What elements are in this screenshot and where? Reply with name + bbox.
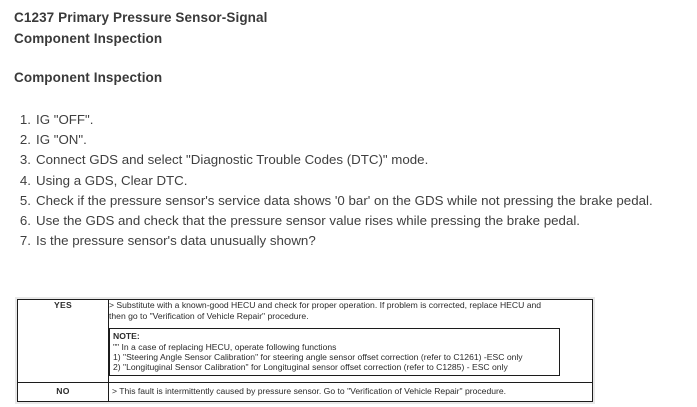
table-row: YES > Substitute with a known-good HECU … [18,300,593,383]
procedure-step-list: 1. IG "OFF". 2. IG "ON". 3. Connect GDS … [14,110,689,251]
document-title-line-2: Component Inspection [14,28,674,49]
step-number: 1. [14,110,36,130]
step-text: Use the GDS and check that the pressure … [36,211,689,231]
action-line: > Substitute with a known-good HECU and … [109,300,592,311]
document-page: C1237 Primary Pressure Sensor-Signal Com… [0,0,697,407]
list-item: 2. IG "ON". [14,130,689,150]
step-number: 2. [14,130,36,150]
action-cell-yes: > Substitute with a known-good HECU and … [109,300,593,383]
document-heading: C1237 Primary Pressure Sensor-Signal Com… [14,7,674,49]
list-item: 7. Is the pressure sensor's data unusual… [14,231,689,251]
action-cell-no: > This fault is intermittently caused by… [109,383,593,402]
list-item: 1. IG "OFF". [14,110,689,130]
note-line: 1) "Steering Angle Sensor Calibration" f… [113,352,556,362]
step-number: 6. [14,211,36,231]
note-line: 2) "Longituginal Sensor Calibration" for… [113,362,556,372]
step-text: Connect GDS and select "Diagnostic Troub… [36,150,689,170]
answer-cell-yes: YES [18,300,109,383]
step-text: Using a GDS, Clear DTC. [36,171,689,191]
note-title: NOTE: [113,331,556,341]
step-text: Check if the pressure sensor's service d… [36,191,689,211]
result-table: YES > Substitute with a known-good HECU … [17,299,593,402]
list-item: 3. Connect GDS and select "Diagnostic Tr… [14,150,689,170]
result-table-wrapper: YES > Substitute with a known-good HECU … [15,297,595,404]
step-text: IG "ON". [36,130,689,150]
section-title: Component Inspection [14,69,162,87]
list-item: 5. Check if the pressure sensor's servic… [14,191,689,211]
action-line: then go to "Verification of Vehicle Repa… [109,311,592,322]
step-number: 4. [14,171,36,191]
document-title-line-1: C1237 Primary Pressure Sensor-Signal [14,7,674,28]
note-box: NOTE: "" In a case of replacing HECU, op… [109,328,560,376]
list-item: 4. Using a GDS, Clear DTC. [14,171,689,191]
answer-cell-no: NO [18,383,109,402]
table-row: NO > This fault is intermittently caused… [18,383,593,402]
list-item: 6. Use the GDS and check that the pressu… [14,211,689,231]
note-line: "" In a case of replacing HECU, operate … [113,342,556,352]
step-number: 5. [14,191,36,211]
step-number: 7. [14,231,36,251]
step-number: 3. [14,150,36,170]
action-line: > This fault is intermittently caused by… [112,386,589,397]
step-text: IG "OFF". [36,110,689,130]
step-text: Is the pressure sensor's data unusually … [36,231,689,251]
